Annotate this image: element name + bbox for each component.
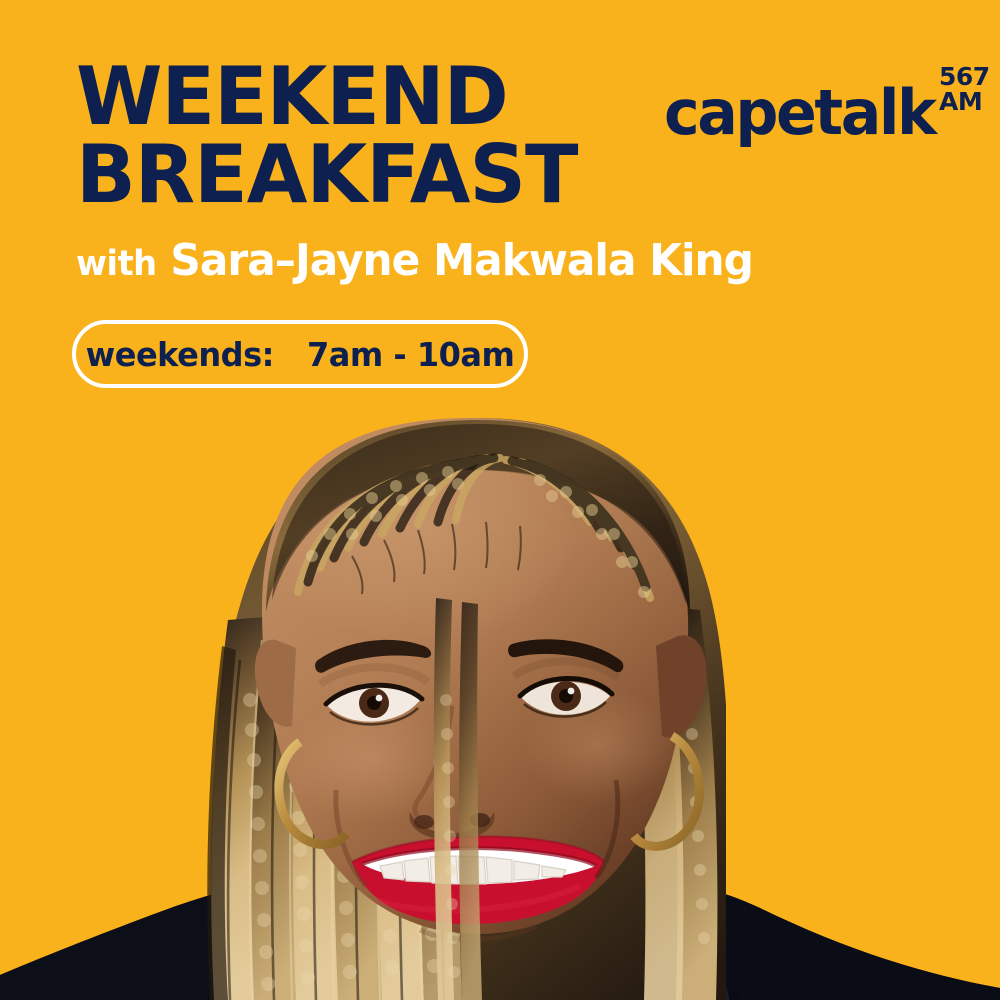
face: [255, 418, 710, 939]
earring-right: [634, 736, 700, 846]
schedule-time: 7am - 10am: [307, 335, 514, 374]
host-name: Sara–Jayne Makwala King: [170, 235, 753, 286]
eye-left: [320, 667, 428, 724]
logo-frequency: 567 AM: [939, 64, 1000, 114]
eyebrow-left: [315, 640, 431, 673]
show-title-block: WEEKEND BREAKFAST with Sara–Jayne Makwal…: [76, 58, 716, 283]
eye-right: [514, 661, 618, 716]
schedule-label: weekends:: [86, 335, 274, 374]
show-title-line-1: WEEKEND: [76, 58, 703, 136]
hair-back: [211, 418, 730, 1000]
host-with-word: with: [76, 244, 157, 284]
mouth: [352, 837, 604, 924]
earring-left: [279, 742, 346, 844]
neck: [392, 790, 562, 940]
eyebrow-right: [508, 639, 623, 672]
schedule-badge: weekends: 7am - 10am: [72, 320, 528, 388]
blazer: [0, 872, 1000, 1000]
show-title-line-2: BREAKFAST: [76, 136, 703, 214]
hair-crown: [266, 420, 690, 614]
hair-front-strands: [207, 598, 482, 1000]
poster-canvas: capetalk 567 AM WEEKEND BREAKFAST with S…: [0, 0, 1000, 1000]
schedule-text: weekends: 7am - 10am: [86, 335, 515, 374]
host-line: with Sara–Jayne Makwala King: [76, 239, 690, 283]
